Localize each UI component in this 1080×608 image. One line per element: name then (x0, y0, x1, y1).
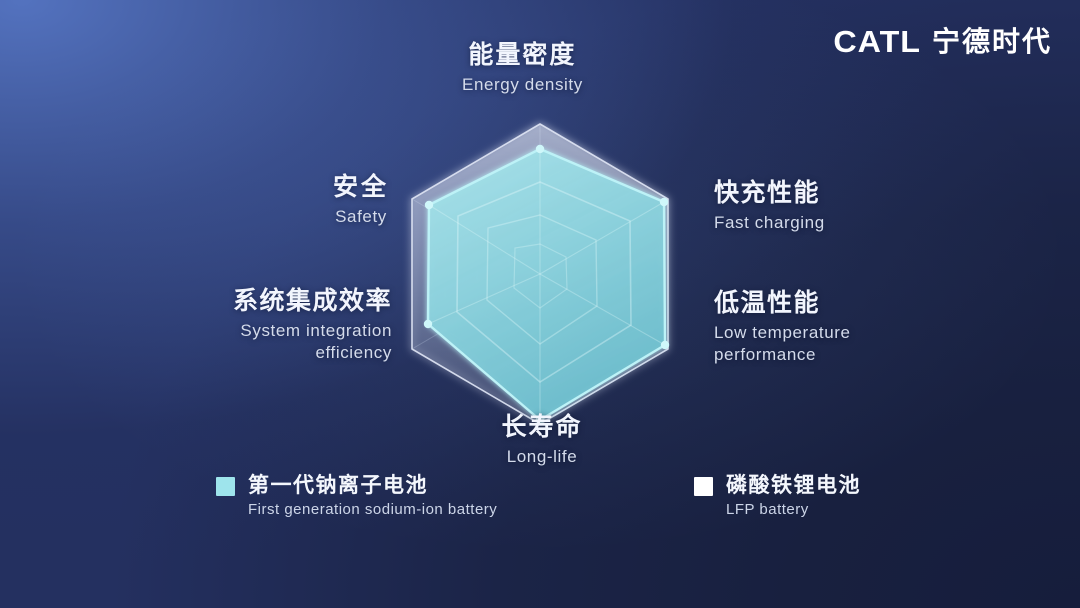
radar-point-safety (425, 201, 433, 209)
axis-label-safety: 安全 Safety (318, 172, 404, 228)
radar-point-energy-density (536, 145, 544, 153)
axis-label-long-life: 长寿命 Long-life (462, 412, 622, 468)
axis-label-low-temperature: 低温性能 Low temperature performance (714, 288, 851, 367)
axis-label-system-integration-en-line2: efficiency (196, 342, 392, 365)
catl-logo: CATL 宁德时代 (835, 26, 1052, 57)
axis-label-fast-charging-cn: 快充性能 (714, 178, 825, 209)
legend-text-lfp: 磷酸铁锂电池 LFP battery (726, 472, 861, 521)
legend-label-lfp-cn: 磷酸铁锂电池 (726, 472, 861, 498)
legend-item-lfp: 磷酸铁锂电池 LFP battery (694, 472, 861, 521)
axis-label-fast-charging: 快充性能 Fast charging (714, 178, 825, 234)
radar-point-fast-charging (660, 198, 668, 206)
axis-label-energy-density-cn: 能量密度 (462, 40, 583, 71)
axis-label-system-integration: 系统集成效率 System integration efficiency (196, 286, 392, 365)
axis-label-long-life-cn: 长寿命 (462, 412, 622, 443)
legend-label-lfp-en: LFP battery (726, 500, 861, 520)
axis-label-safety-cn: 安全 (318, 172, 404, 203)
axis-label-system-integration-cn: 系统集成效率 (196, 286, 392, 317)
radar-point-system-integration (424, 320, 432, 328)
axis-label-low-temperature-en-line1: Low temperature (714, 322, 851, 345)
axis-label-energy-density: 能量密度 Energy density (462, 40, 583, 96)
legend-label-sodium-ion-cn: 第一代钠离子电池 (248, 472, 497, 498)
axis-label-energy-density-en: Energy density (462, 74, 583, 97)
legend-item-sodium-ion: 第一代钠离子电池 First generation sodium-ion bat… (216, 472, 497, 521)
legend-text-sodium-ion: 第一代钠离子电池 First generation sodium-ion bat… (248, 472, 497, 521)
logo-chinese-text: 宁德时代 (932, 28, 1052, 56)
logo-latin-text: CATL (833, 26, 921, 57)
axis-label-long-life-en: Long-life (462, 446, 622, 469)
legend-swatch-sodium-ion (216, 477, 235, 496)
axis-label-fast-charging-en: Fast charging (714, 212, 825, 235)
axis-label-safety-en: Safety (318, 206, 404, 229)
axis-label-low-temperature-cn: 低温性能 (714, 288, 851, 319)
legend-label-sodium-ion-en: First generation sodium-ion battery (248, 500, 497, 520)
radar-point-low-temperature (661, 341, 669, 349)
slide-canvas: CATL 宁德时代 (0, 0, 1080, 608)
axis-label-system-integration-en-line1: System integration (196, 320, 392, 343)
axis-label-low-temperature-en-line2: performance (714, 344, 851, 367)
legend-swatch-lfp (694, 477, 713, 496)
